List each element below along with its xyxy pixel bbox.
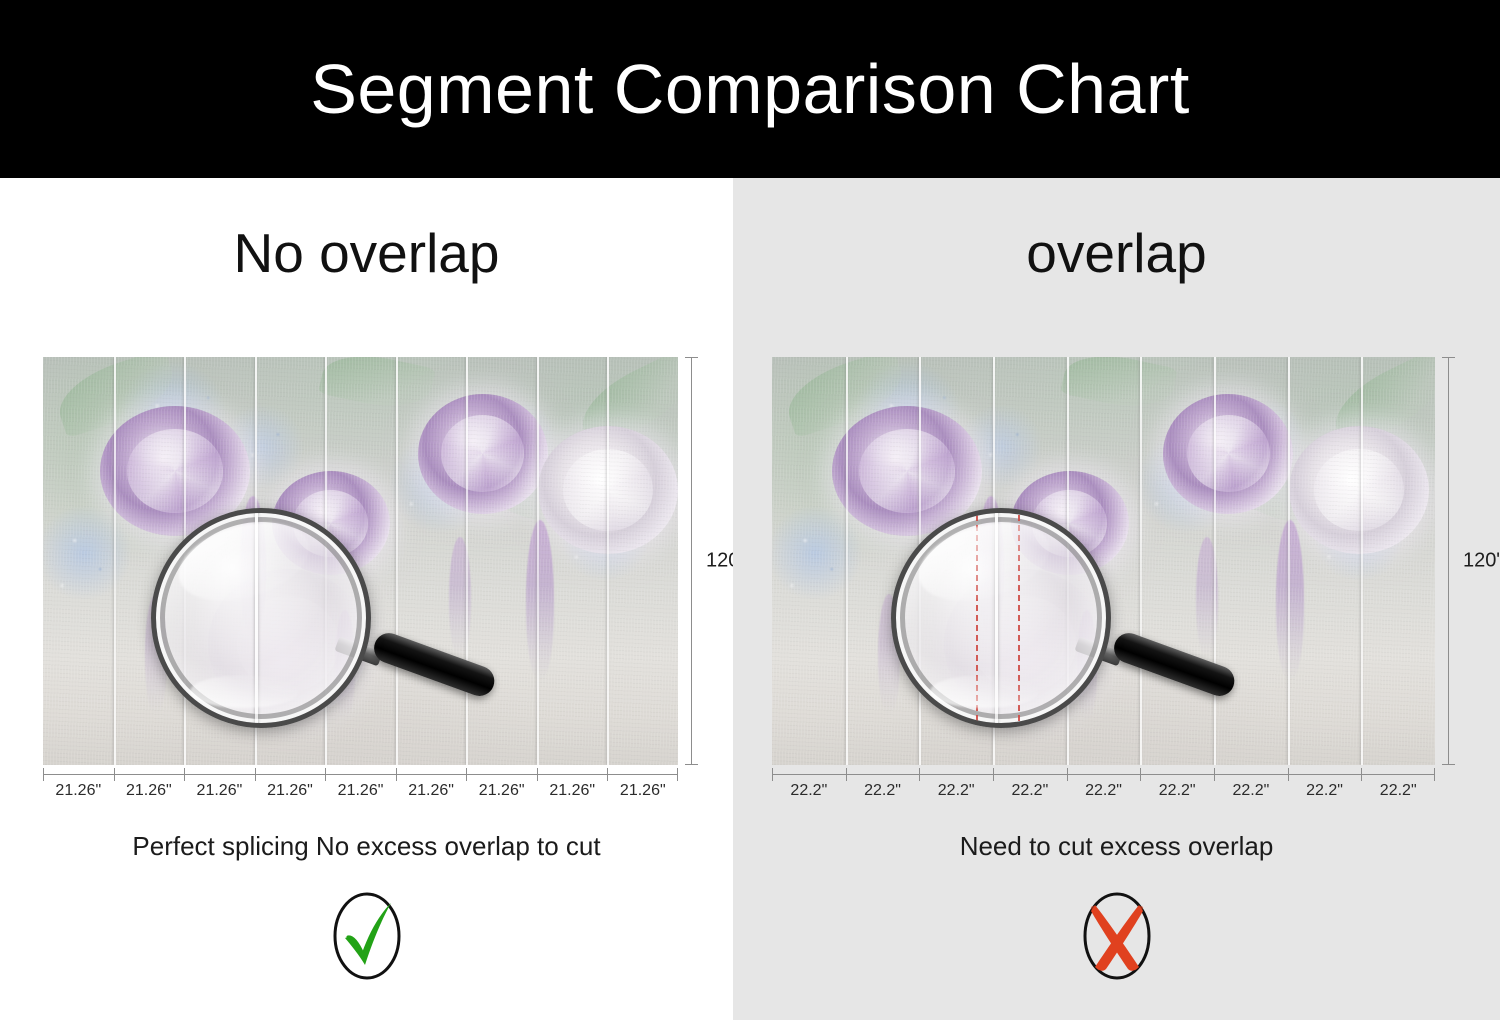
dimension-line <box>691 357 692 765</box>
panels-container: No overlap <box>0 178 1500 1020</box>
segment-width-label: 22.2" <box>1214 781 1288 801</box>
title-bar: Segment Comparison Chart <box>0 0 1500 178</box>
segment-width-label: 21.26" <box>43 781 114 801</box>
segment-width-label: 22.2" <box>1140 781 1214 801</box>
segment-width-label: 22.2" <box>846 781 920 801</box>
lens-highlight <box>190 675 299 709</box>
magnifier-overlap <box>891 508 1101 718</box>
segment-seam-lines <box>772 357 1435 765</box>
verdict-check-no-overlap <box>315 883 419 987</box>
green-check-icon <box>315 883 419 987</box>
figure-overlap: 120" 22.2" 22.2" 22.2" 22.2" <box>772 357 1435 765</box>
panel-no-overlap: No overlap <box>0 178 733 1020</box>
segment-width-label: 21.26" <box>114 781 185 801</box>
segment-width-label: 21.26" <box>396 781 467 801</box>
segment-width-label: 21.26" <box>325 781 396 801</box>
segment-width-label: 22.2" <box>1067 781 1141 801</box>
dimension-cap <box>685 764 698 765</box>
height-dimension-no-overlap: 120" <box>684 357 710 765</box>
verdict-cross-overlap <box>1065 883 1169 987</box>
lens-highlight <box>170 508 319 614</box>
caption-overlap: Need to cut excess overlap <box>733 833 1500 859</box>
segment-width-label: 22.2" <box>1288 781 1362 801</box>
segment-width-label: 22.2" <box>919 781 993 801</box>
segment-width-labels-no-overlap: 21.26" 21.26" 21.26" 21.26" 21.26" 21.26… <box>43 781 678 801</box>
dimension-cap <box>685 357 698 358</box>
dimension-line <box>1448 357 1449 765</box>
wallpaper-preview-overlap <box>772 357 1435 765</box>
magnifier-no-overlap <box>151 508 361 718</box>
magnifier-lens <box>891 508 1111 728</box>
panel-heading-no-overlap: No overlap <box>0 226 733 281</box>
segment-width-label: 21.26" <box>184 781 255 801</box>
red-cross-icon <box>1065 883 1169 987</box>
segment-width-label: 21.26" <box>537 781 608 801</box>
figure-no-overlap: 120" 21.26" 21.26" 21.26" 21 <box>43 357 678 765</box>
dimension-cap <box>1442 764 1455 765</box>
page-title: Segment Comparison Chart <box>310 54 1190 124</box>
dimension-ticks <box>772 768 1435 781</box>
segment-width-label: 22.2" <box>993 781 1067 801</box>
height-label-overlap: 120" <box>1463 550 1500 573</box>
segment-width-label: 22.2" <box>772 781 846 801</box>
segment-width-label: 22.2" <box>1361 781 1435 801</box>
magnifier-lens <box>151 508 371 728</box>
caption-no-overlap: Perfect splicing No excess overlap to cu… <box>0 833 733 859</box>
segment-width-label: 21.26" <box>466 781 537 801</box>
lens-highlight <box>930 675 1039 709</box>
segment-width-label: 21.26" <box>608 781 679 801</box>
segment-width-labels-overlap: 22.2" 22.2" 22.2" 22.2" 22.2" 22.2" 22.2… <box>772 781 1435 801</box>
lens-highlight <box>910 508 1059 614</box>
panel-heading-overlap: overlap <box>733 226 1500 281</box>
height-dimension-overlap: 120" <box>1441 357 1467 765</box>
comparison-chart-page: Segment Comparison Chart No overlap <box>0 0 1500 1020</box>
segment-width-label: 21.26" <box>255 781 326 801</box>
dimension-ticks <box>43 768 678 781</box>
dimension-cap <box>1442 357 1455 358</box>
panel-overlap: overlap <box>733 178 1500 1020</box>
